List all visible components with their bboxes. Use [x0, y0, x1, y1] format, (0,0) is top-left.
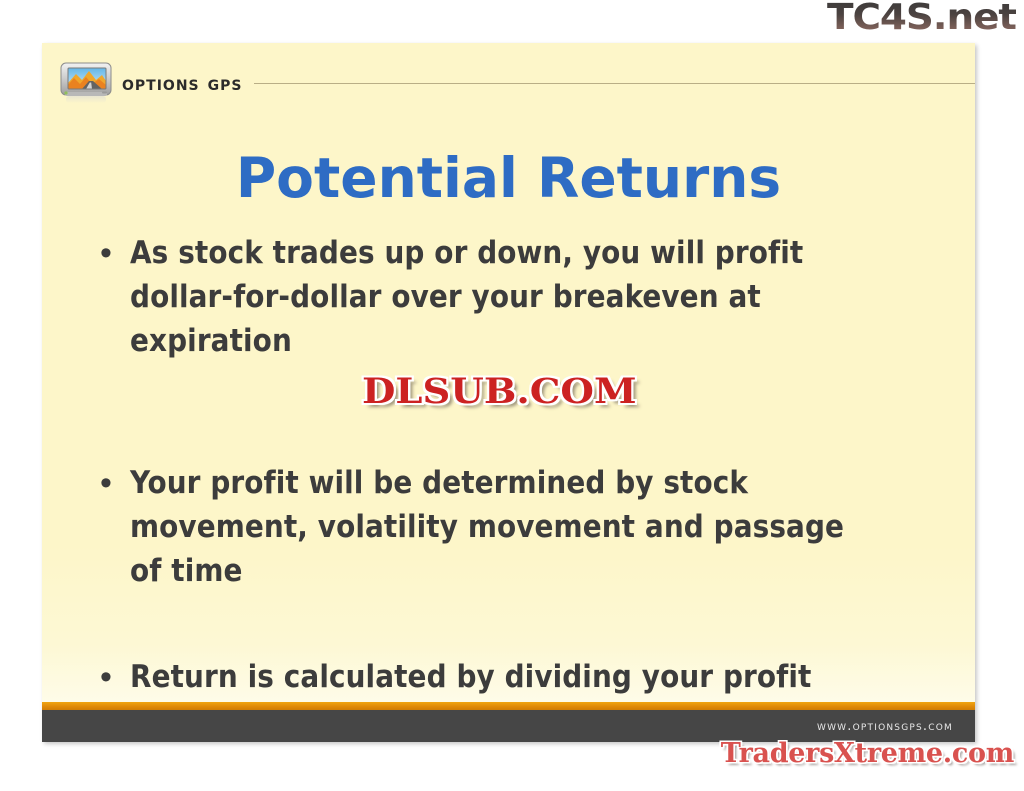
bullet-line: Return is calculated by dividing your pr… [130, 655, 952, 699]
page-title: Potential Returns [42, 146, 975, 210]
accent-stripe [42, 702, 975, 710]
bullet-marker-icon: • [92, 461, 130, 505]
bullet-line: of time [130, 549, 952, 593]
tc4s-brand-logo: TC4S.net [827, 0, 1016, 38]
bullet-line: As stock trades up or down, you will pro… [130, 231, 952, 275]
footer-website-url: www.OptionsGPS.com [817, 719, 953, 734]
bullet-line: expiration [130, 319, 952, 363]
dlsub-watermark: DLSUB.COM [362, 371, 637, 412]
slide-header: Options GPS [42, 59, 975, 107]
bullet-text: Your profit will be determined by stock … [130, 461, 952, 593]
bullet-line: Your profit will be determined by stock [130, 461, 952, 505]
gps-device-icon [58, 61, 116, 105]
tradersxtreme-brand-logo: TradersXtreme.com [721, 738, 1014, 769]
list-item: • As stock trades up or down, you will p… [92, 231, 952, 363]
slide-canvas: Options GPS Potential Returns • As stock… [42, 43, 975, 742]
list-item: • Your profit will be determined by stoc… [92, 461, 952, 593]
bullet-line: dollar-for-dollar over your breakeven at [130, 275, 952, 319]
options-gps-wordmark: Options GPS [122, 71, 242, 95]
bullet-marker-icon: • [92, 655, 130, 699]
bullet-marker-icon: • [92, 231, 130, 275]
bullet-text: As stock trades up or down, you will pro… [130, 231, 952, 363]
bullet-list: • As stock trades up or down, you will p… [92, 231, 952, 742]
header-divider-rule [254, 83, 975, 84]
bullet-line: movement, volatility movement and passag… [130, 505, 952, 549]
